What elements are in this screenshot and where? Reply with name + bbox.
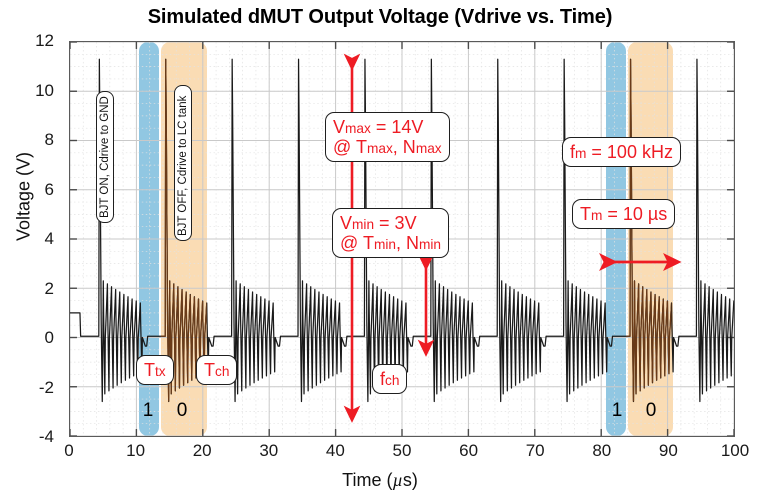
vmin-sub: min (352, 217, 374, 232)
y-tick-10: 10 (35, 81, 54, 101)
x-tick-60: 60 (459, 441, 478, 461)
tch-sub: ch (215, 364, 229, 379)
bit-label-0b: 0 (642, 400, 660, 422)
fch-sub: ch (385, 373, 399, 388)
x-axis-tick-labels: 0 10 20 30 40 50 60 70 80 90 100 (69, 441, 735, 467)
x-tick-90: 90 (659, 441, 678, 461)
y-tick-4: 4 (45, 229, 54, 249)
x-tick-0: 0 (64, 441, 73, 461)
callout-tch: Tch (196, 355, 237, 385)
y-tick-2: 2 (45, 279, 54, 299)
fm-post: = 100 kHz (586, 142, 673, 162)
callout-tm: Tm = 10 µs (572, 199, 675, 229)
x-axis-label: Time (µs) (0, 470, 760, 491)
callout-fch: fch (372, 364, 407, 394)
vmax-at-sub: max (367, 141, 393, 156)
callout-ttx: Ttx (136, 355, 174, 385)
x-tick-80: 80 (592, 441, 611, 461)
bit-label-1a: 1 (139, 400, 157, 422)
y-tick-neg4: -4 (39, 427, 54, 447)
callout-vmin: Vmin = 3V @ Tmin, Nmin (332, 208, 449, 258)
vmin-at-sub: min (374, 237, 396, 252)
callout-fm: fm = 100 kHz (562, 137, 681, 167)
bit-label-0a: 0 (173, 400, 191, 422)
band-note-bjt-off: BJT OFF, Cdrive to LC tank (174, 85, 192, 241)
chart-figure: Simulated dMUT Output Voltage (Vdrive vs… (0, 0, 760, 504)
vmin-n: , N (396, 233, 419, 253)
vmin-v: V (340, 213, 352, 233)
y-tick-6: 6 (45, 180, 54, 200)
vmax-line2: @ Tmax, Nmax (333, 137, 442, 157)
tch-main: T (204, 360, 215, 380)
x-tick-30: 30 (259, 441, 278, 461)
vmax-line1: Vmax = 14V (333, 117, 442, 137)
bit-label-1b: 1 (608, 400, 626, 422)
tm-pre: T (580, 204, 591, 224)
tm-post: = 10 µs (602, 204, 667, 224)
fm-sub: m (575, 146, 586, 161)
ttx-sub: tx (155, 364, 166, 379)
vmax-v: V (333, 117, 345, 137)
callout-vmax: Vmax = 14V @ Tmax, Nmax (325, 112, 450, 162)
x-axis-label-post: s) (403, 470, 418, 490)
band-note-bjt-on: BJT ON, Cdrive to GND (96, 91, 114, 223)
x-tick-10: 10 (126, 441, 145, 461)
ttx-main: T (144, 360, 155, 380)
y-tick-0: 0 (45, 328, 54, 348)
y-tick-neg2: -2 (39, 378, 54, 398)
vmax-n-sub: max (416, 141, 442, 156)
x-tick-70: 70 (526, 441, 545, 461)
vmax-eq: = 14V (371, 117, 424, 137)
x-axis-label-pre: Time ( (342, 470, 392, 490)
vmin-eq: = 3V (374, 213, 417, 233)
vmin-n-sub: min (419, 237, 441, 252)
x-tick-100: 100 (721, 441, 749, 461)
chart-title: Simulated dMUT Output Voltage (Vdrive vs… (0, 6, 760, 29)
vmax-at: @ T (333, 137, 367, 157)
x-axis-label-mu: µ (392, 470, 402, 490)
vmax-sub: max (345, 121, 371, 136)
tm-sub: m (591, 208, 602, 223)
y-tick-12: 12 (35, 31, 54, 51)
y-tick-8: 8 (45, 130, 54, 150)
x-tick-20: 20 (193, 441, 212, 461)
vmax-n: , N (393, 137, 416, 157)
vmin-line1: Vmin = 3V (340, 213, 441, 233)
y-axis-label: Voltage (V) (14, 87, 35, 307)
x-tick-40: 40 (326, 441, 345, 461)
x-tick-50: 50 (393, 441, 412, 461)
vmin-line2: @ Tmin, Nmin (340, 233, 441, 253)
vmin-at: @ T (340, 233, 374, 253)
